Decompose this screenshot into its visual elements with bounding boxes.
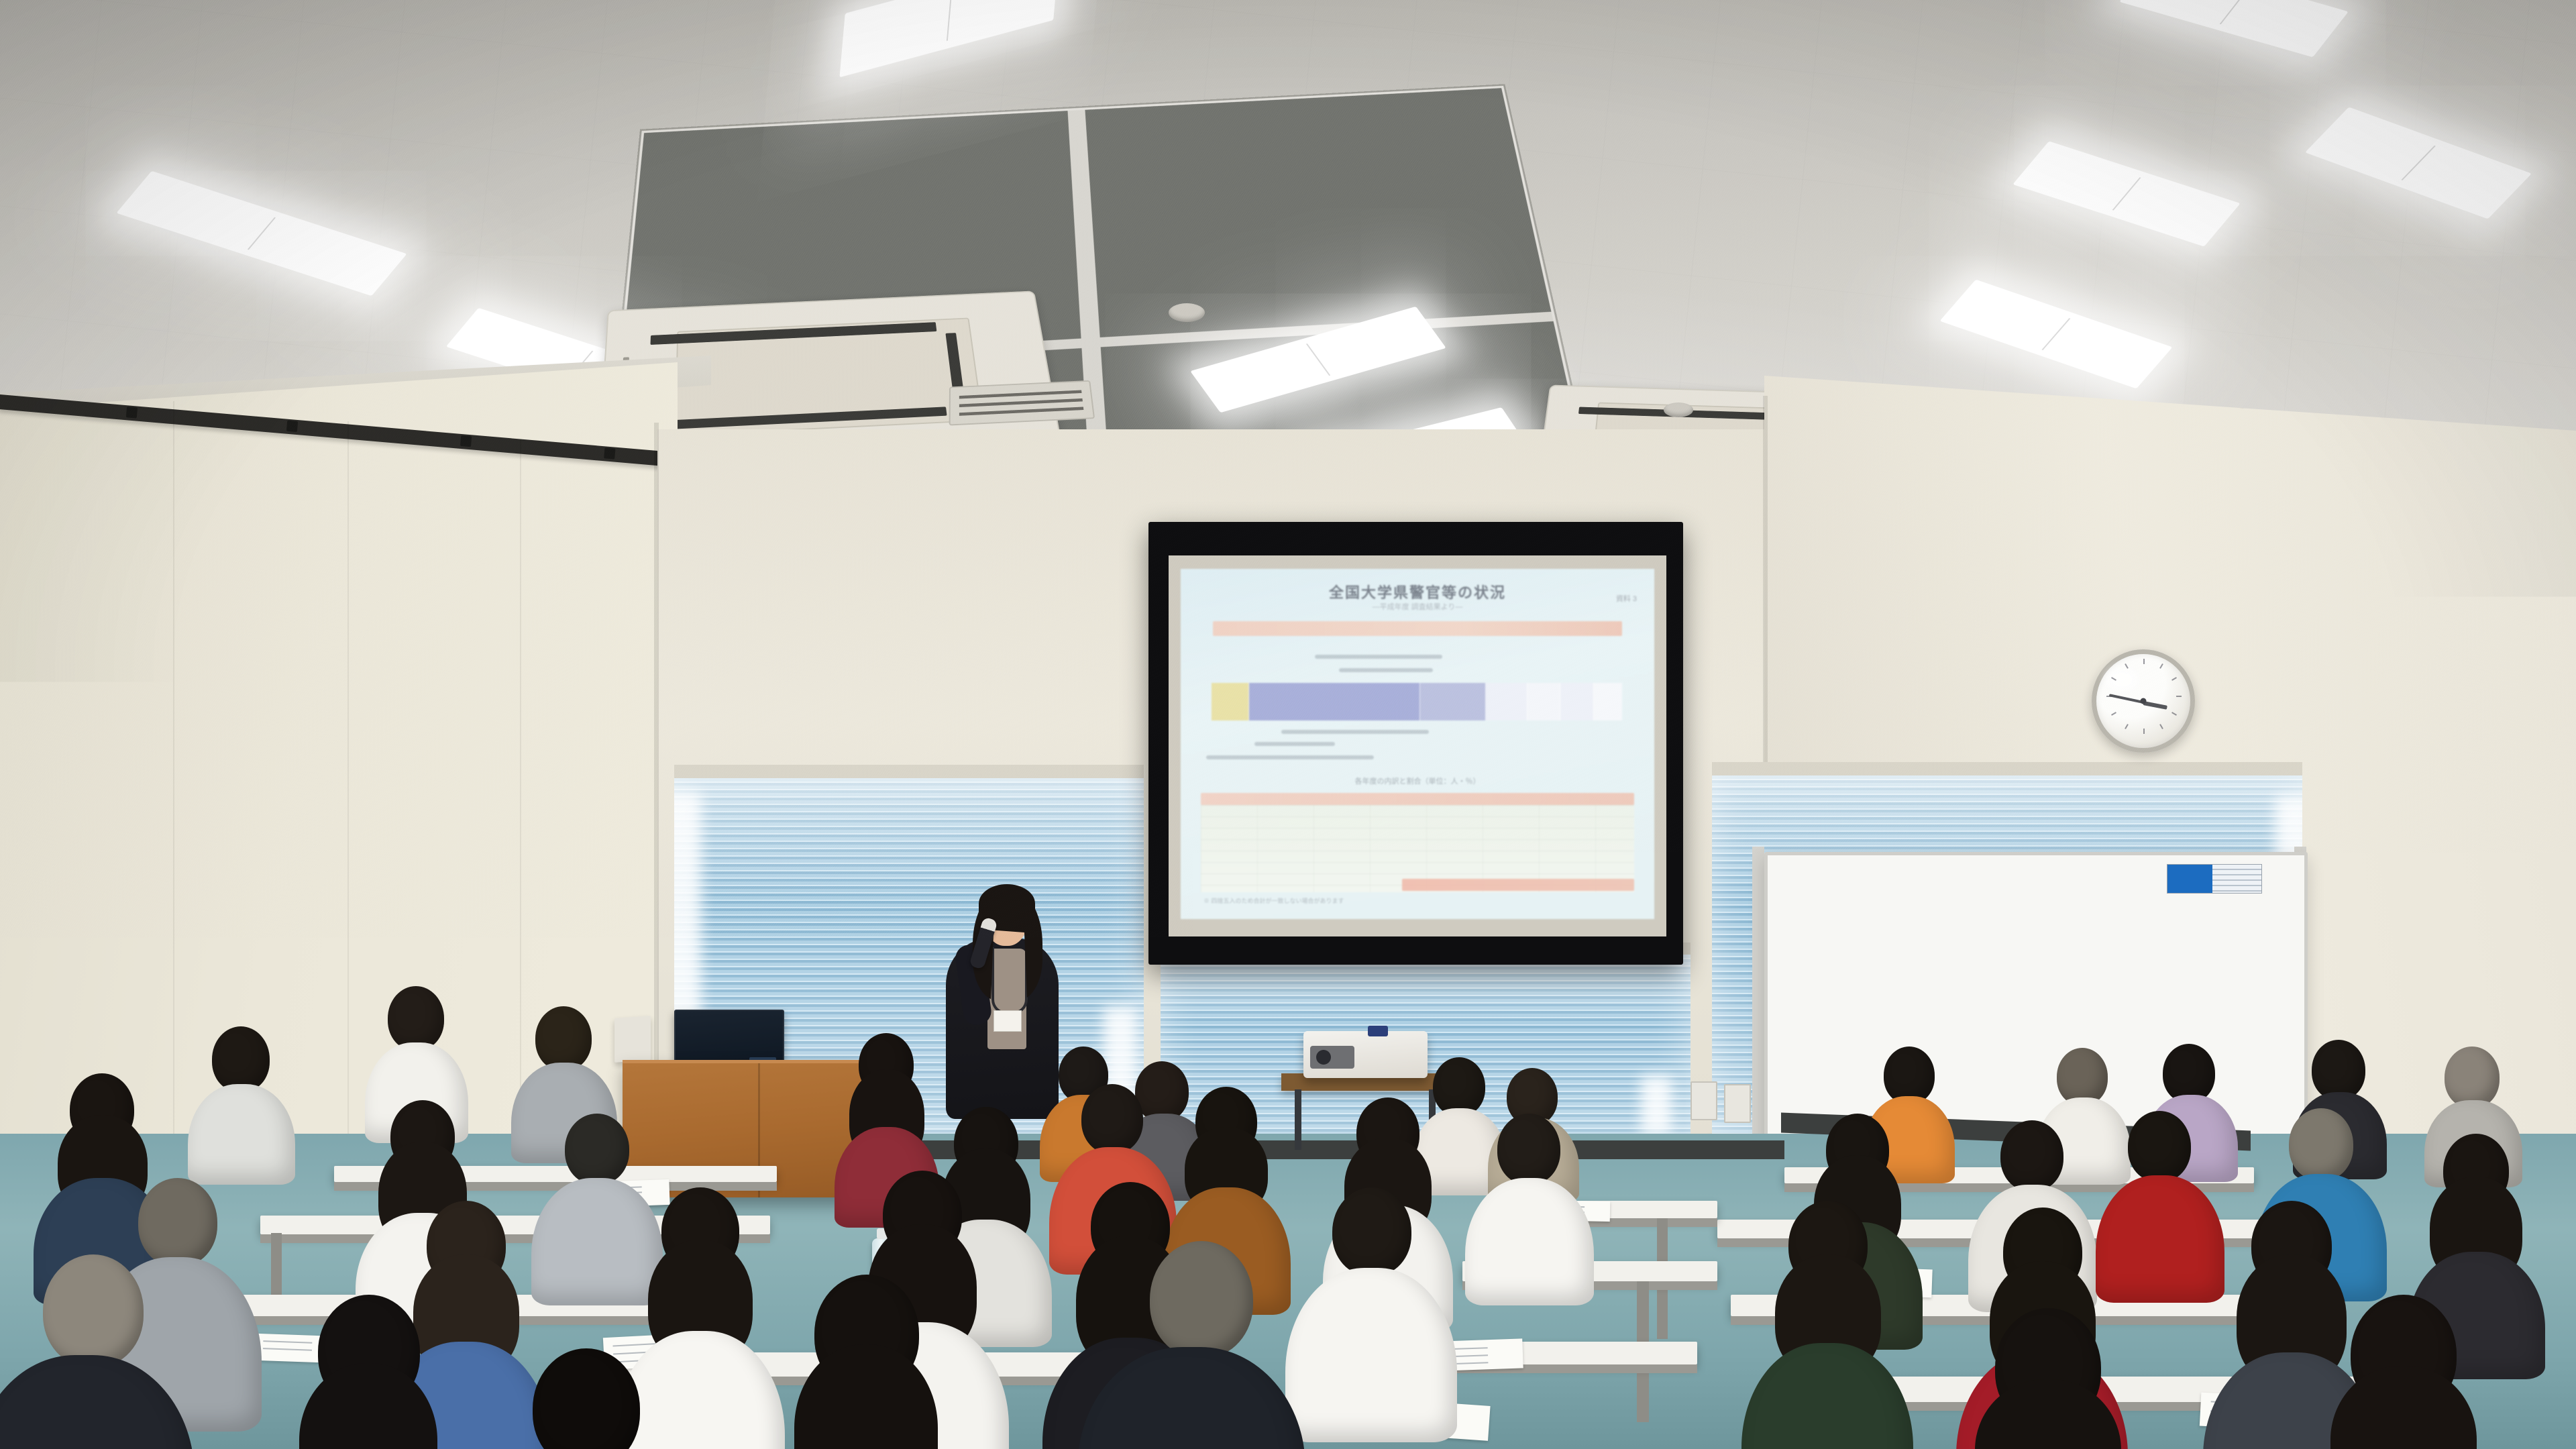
slide-text-line bbox=[1339, 668, 1433, 672]
projected-slide: 全国大学県警官等の状況 資料 3 ―平成年度 調査結果より― 各年度の内訳と割合… bbox=[1181, 569, 1654, 919]
slide-caption: 各年度の内訳と割合（単位：人・％） bbox=[1181, 775, 1654, 786]
projector[interactable] bbox=[1303, 1031, 1428, 1078]
slide-title: 全国大学県警官等の状況 bbox=[1181, 581, 1654, 602]
projector-indicator-icon bbox=[1368, 1026, 1388, 1036]
clock-tick bbox=[2159, 663, 2163, 669]
clock-hour-hand bbox=[2143, 701, 2167, 710]
slide-bar-row bbox=[1212, 683, 1622, 720]
partition-seam bbox=[520, 439, 521, 1184]
blind-headrail bbox=[1712, 762, 2302, 777]
slide-text-line bbox=[1254, 742, 1335, 746]
slide-text-line bbox=[1281, 730, 1429, 734]
wall-outlet[interactable] bbox=[1724, 1084, 1751, 1123]
clock-glass-glare bbox=[2106, 667, 2138, 692]
clock-tick bbox=[2176, 696, 2182, 697]
slide-row-highlight bbox=[1402, 879, 1634, 891]
slide-highlight-band bbox=[1213, 621, 1622, 636]
clock-tick bbox=[2171, 677, 2177, 681]
clock-tick bbox=[2143, 729, 2145, 734]
clock-minute-hand bbox=[2109, 694, 2144, 704]
clock-center-pin bbox=[2141, 698, 2147, 704]
smoke-detector-icon bbox=[1169, 303, 1205, 322]
seminar-room-photo: 全国大学県警官等の状況 資料 3 ―平成年度 調査結果より― 各年度の内訳と割合… bbox=[0, 0, 2576, 1449]
clock-tick bbox=[2171, 712, 2177, 716]
wall-corner-left bbox=[654, 423, 659, 1161]
projector-table-leg bbox=[1295, 1089, 1301, 1150]
clock-tick bbox=[2143, 659, 2145, 664]
clock-tick bbox=[2125, 724, 2129, 729]
presenter-lanyard bbox=[991, 947, 1028, 1014]
ac-vent-panel bbox=[949, 380, 1095, 426]
clock-tick bbox=[2111, 712, 2116, 716]
slide-table-header-band bbox=[1201, 793, 1634, 805]
wall-outlet[interactable] bbox=[1690, 1081, 1717, 1120]
small-monitor bbox=[614, 1016, 651, 1063]
slide-text-line bbox=[1315, 655, 1442, 659]
partition-seam bbox=[347, 421, 349, 1179]
slide-subtitle: ―平成年度 調査結果より― bbox=[1181, 601, 1654, 612]
slide-text-line bbox=[1206, 755, 1374, 759]
blind-headrail bbox=[674, 765, 1144, 780]
whiteboard[interactable] bbox=[1764, 852, 2308, 1147]
projector-lens-icon bbox=[1310, 1046, 1354, 1069]
smoke-detector-icon bbox=[1664, 402, 1693, 417]
clock-tick bbox=[2159, 724, 2163, 729]
whiteboard-magnet-icon[interactable] bbox=[2167, 864, 2262, 894]
partition-seam bbox=[173, 401, 174, 1173]
wall-clock bbox=[2092, 649, 2195, 753]
presenter-name-badge bbox=[994, 1010, 1022, 1032]
slide-footnote: ※ 四捨五入のため合計が一致しない場合があります bbox=[1203, 896, 1344, 905]
